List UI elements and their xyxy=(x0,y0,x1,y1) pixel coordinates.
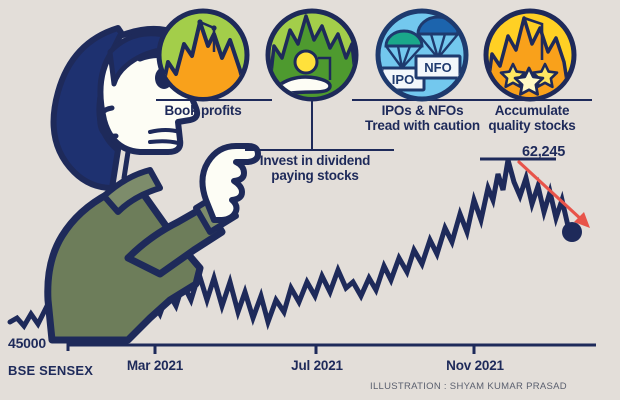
axis-start-value: 45000 xyxy=(8,336,68,352)
callout-label-invest-dividend: Invest in dividend paying stocks xyxy=(240,153,390,183)
callout-icons-layer: IPO NFO xyxy=(0,0,620,400)
axis-tick-label-jul-2021: Jul 2021 xyxy=(272,358,362,373)
nfo-badge-text: NFO xyxy=(424,60,451,75)
mountain-stars-gold-icon[interactable] xyxy=(486,11,574,110)
illustration-credit: ILLUSTRATION : SHYAM KUMAR PRASAD xyxy=(370,381,567,392)
hand-holding-coin-green-icon[interactable] xyxy=(268,11,358,100)
peak-value-label: 62,245 xyxy=(522,144,602,160)
callout-label-accumulate-quality: Accumulate quality stocks xyxy=(468,103,596,133)
callout-label-book-profits: Book profits xyxy=(143,103,263,118)
ipo-badge-text: IPO xyxy=(392,72,414,87)
mountain-peak-orange-icon[interactable] xyxy=(159,11,248,108)
infographic-canvas: IPO NFO Book xyxy=(0,0,620,400)
parachutes-ipo-nfo-icon[interactable]: IPO NFO xyxy=(378,11,466,99)
axis-tick-label-mar-2021: Mar 2021 xyxy=(110,358,200,373)
axis-tick-label-nov-2021: Nov 2021 xyxy=(430,358,520,373)
